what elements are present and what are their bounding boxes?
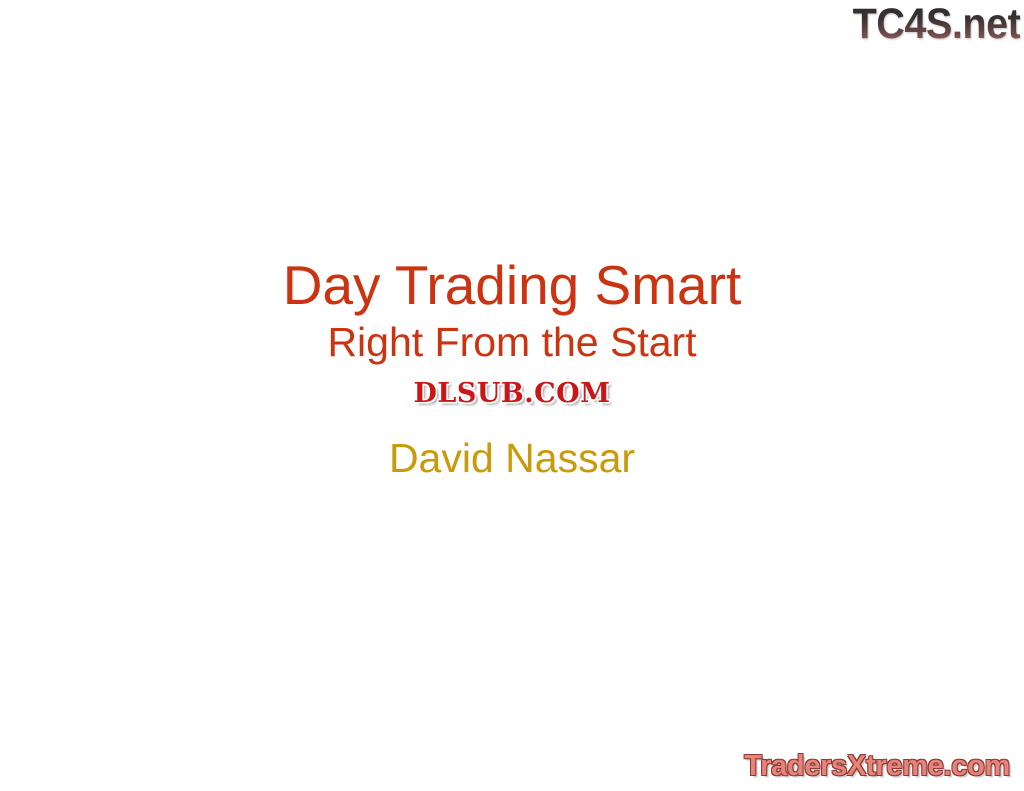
title-block: Day Trading Smart Right From the Start	[0, 252, 1024, 366]
tc4s-logo: TC4S.net	[852, 2, 1020, 46]
page-subtitle: Right From the Start	[0, 318, 1024, 366]
page-title: Day Trading Smart	[0, 252, 1024, 318]
author-name: David Nassar	[0, 434, 1024, 482]
presentation-slide: TC4S.net Day Trading Smart Right From th…	[0, 0, 1024, 791]
dlsub-watermark: DLSUB.COM	[409, 377, 614, 411]
tradersxtreme-watermark: TradersXtreme.com	[744, 749, 1010, 783]
